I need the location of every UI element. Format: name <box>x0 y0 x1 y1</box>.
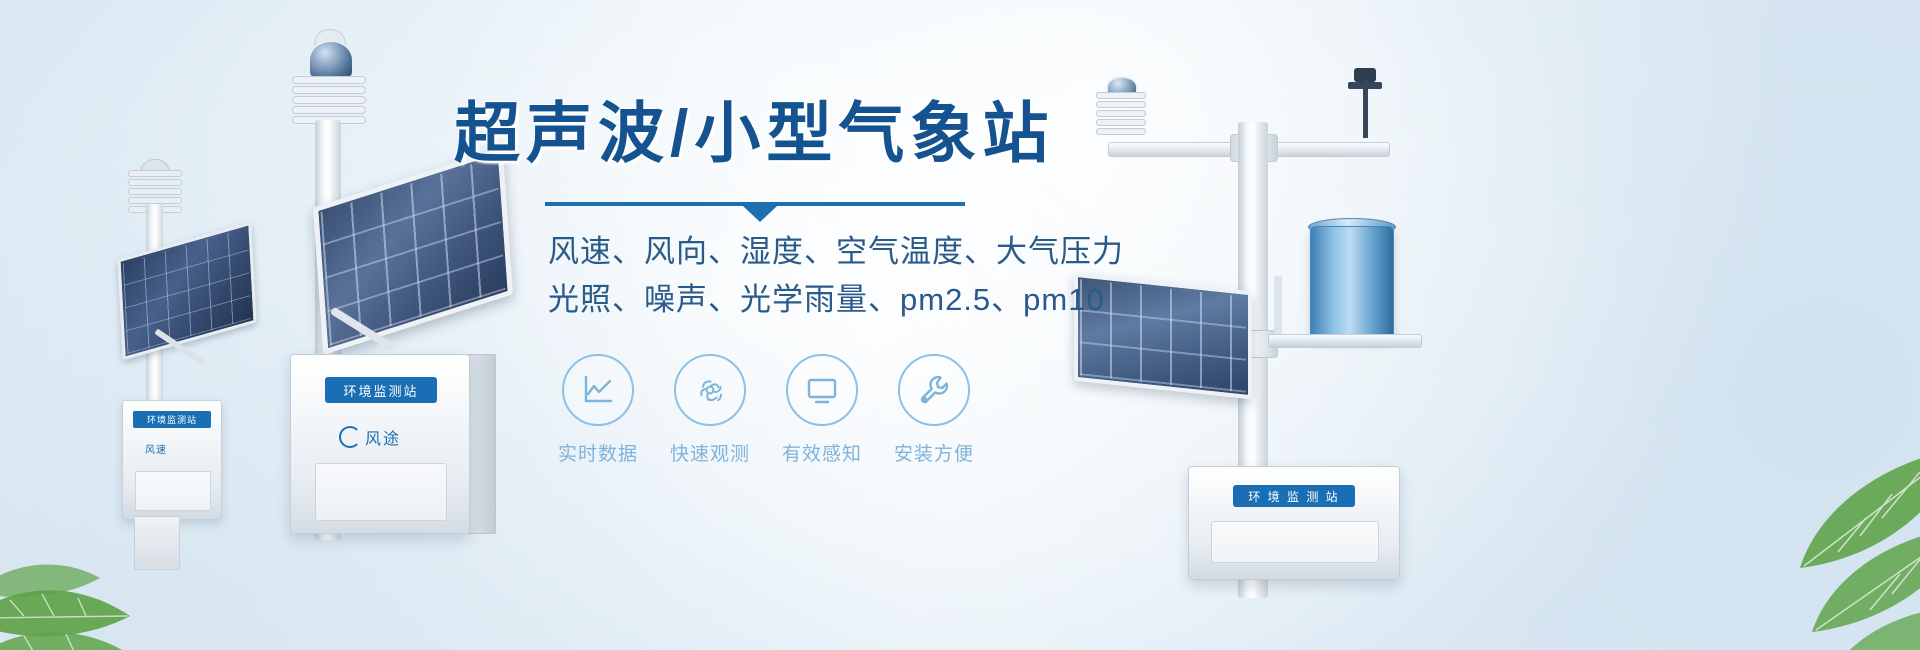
subtitle-line-2: 光照、噪声、光学雨量、pm2.5、pm10 <box>548 276 1060 324</box>
radar-signal-icon <box>674 354 746 426</box>
feature-item-realtime-data[interactable]: 实时数据 <box>542 354 654 466</box>
ultrasonic-wind-sensor-icon <box>1096 90 1144 136</box>
divider-triangle-icon <box>743 206 777 222</box>
radiation-dome-icon <box>308 40 354 80</box>
wind-vane-icon <box>1348 68 1382 138</box>
cabinet-label: 环境监测站 <box>133 411 211 428</box>
brand-text: 风途 <box>365 425 401 449</box>
cabinet-door <box>1211 521 1379 563</box>
control-cabinet: 环境监测站 风速 <box>122 400 222 520</box>
rain-gauge-icon <box>1310 226 1394 340</box>
page-title: 超声波/小型气象站 <box>454 96 1060 172</box>
feature-item-effective-sensing[interactable]: 有效感知 <box>766 354 878 466</box>
solar-panel <box>117 222 256 361</box>
feature-label: 安装方便 <box>894 439 974 466</box>
control-cabinet: 环 境 监 测 站 <box>1188 466 1400 580</box>
cabinet-label: 环境监测站 <box>325 377 437 403</box>
cabinet-brand-logo: 风途 <box>339 425 401 449</box>
station-base <box>134 516 180 570</box>
feature-list: 实时数据 快速观测 <box>542 354 1060 466</box>
cabinet-brand: 风速 <box>145 441 167 456</box>
brand-mark-icon <box>339 426 361 448</box>
line-chart-icon <box>562 354 634 426</box>
subtitle-line-1: 风速、风向、湿度、空气温度、大气压力 <box>548 228 1060 276</box>
feature-label: 实时数据 <box>558 439 638 466</box>
cabinet-label: 环 境 监 测 站 <box>1233 485 1355 507</box>
title-divider <box>545 194 965 218</box>
feature-item-fast-observation[interactable]: 快速观测 <box>654 354 766 466</box>
product-banner: 环境监测站 风速 环境监测站 风途 <box>0 0 1920 650</box>
cabinet-door <box>315 463 447 521</box>
shelf-support <box>1274 276 1282 336</box>
instrument-shelf <box>1268 334 1422 348</box>
leaf-decoration-right <box>1620 410 1920 650</box>
feature-label: 快速观测 <box>670 439 750 466</box>
banner-content: 超声波/小型气象站 风速、风向、湿度、空气温度、大气压力 光照、噪声、光学雨量、… <box>440 96 1060 466</box>
wrench-icon <box>898 354 970 426</box>
feature-item-easy-install[interactable]: 安装方便 <box>878 354 990 466</box>
feature-label: 有效感知 <box>782 439 862 466</box>
weather-station-right-large: 环 境 监 测 站 <box>1060 38 1480 598</box>
cabinet-door <box>135 471 211 511</box>
monitor-screen-icon <box>786 354 858 426</box>
